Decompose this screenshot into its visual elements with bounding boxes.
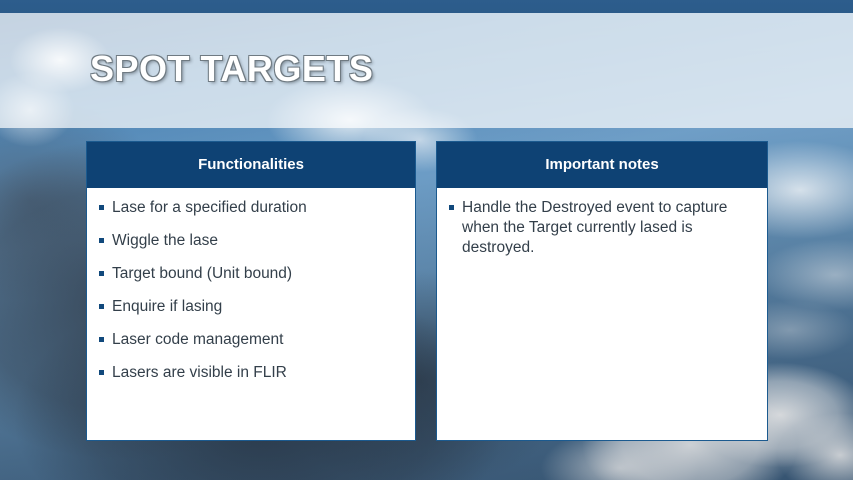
top-accent-band (0, 0, 853, 13)
list-item: Enquire if lasing (97, 297, 403, 317)
functionalities-list: Lase for a specified duration Wiggle the… (97, 198, 403, 383)
list-item: Lasers are visible in FLIR (97, 363, 403, 383)
functionalities-panel-body: Lase for a specified duration Wiggle the… (87, 188, 415, 406)
page-title: SPOT TARGETS (90, 48, 373, 90)
functionalities-panel-header: Functionalities (87, 142, 415, 188)
list-item: Target bound (Unit bound) (97, 264, 403, 284)
important-notes-panel: Important notes Handle the Destroyed eve… (436, 141, 768, 441)
functionalities-panel: Functionalities Lase for a specified dur… (86, 141, 416, 441)
list-item: Wiggle the lase (97, 231, 403, 251)
important-notes-panel-body: Handle the Destroyed event to capture wh… (437, 188, 767, 278)
list-item: Handle the Destroyed event to capture wh… (447, 198, 755, 258)
important-notes-panel-header: Important notes (437, 142, 767, 188)
list-item: Lase for a specified duration (97, 198, 403, 218)
important-notes-list: Handle the Destroyed event to capture wh… (447, 198, 755, 258)
list-item: Laser code management (97, 330, 403, 350)
presentation-slide: SPOT TARGETS Functionalities Lase for a … (0, 0, 853, 480)
